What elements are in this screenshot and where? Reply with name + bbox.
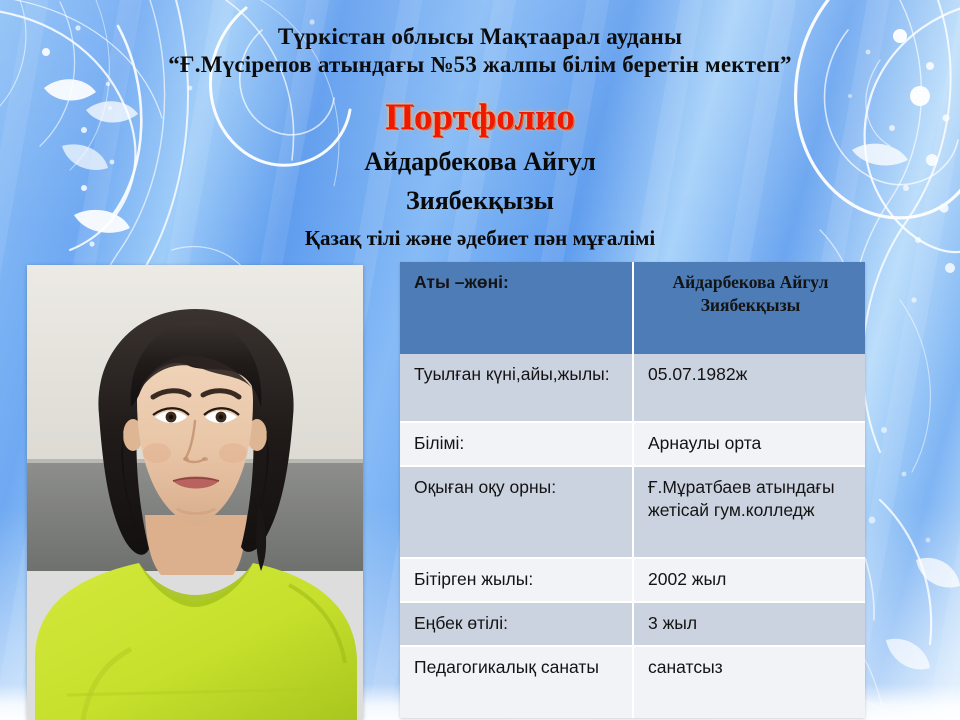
table-row: Білімі: Арнаулы орта xyxy=(400,422,865,466)
teacher-photo xyxy=(27,265,363,720)
row-value: 2002 жыл xyxy=(633,558,865,602)
table-header-label: Аты –жөні: xyxy=(400,262,633,354)
page-title: Портфолио xyxy=(0,96,960,139)
table-header-row: Аты –жөні: Айдарбекова Айгул Зиябекқызы xyxy=(400,262,865,354)
row-value: Арнаулы орта xyxy=(633,422,865,466)
row-label: Бітірген жылы: xyxy=(400,558,633,602)
row-value: 05.07.1982ж xyxy=(633,354,865,422)
row-label: Туылған күні,айы,жылы: xyxy=(400,354,633,422)
row-value: Ғ.Мұратбаев атындағы жетісай гум.колледж xyxy=(633,466,865,558)
table-row: Бітірген жылы: 2002 жыл xyxy=(400,558,865,602)
table-row: Еңбек өтілі: 3 жыл xyxy=(400,602,865,646)
portrait-illustration xyxy=(27,265,363,720)
row-value: 3 жыл xyxy=(633,602,865,646)
table-row: Оқыған оқу орны: Ғ.Мұратбаев атындағы же… xyxy=(400,466,865,558)
school-region-line: Түркістан облысы Мақтаарал ауданы xyxy=(0,24,960,50)
table-row: Туылған күні,айы,жылы: 05.07.1982ж xyxy=(400,354,865,422)
table-header-value: Айдарбекова Айгул Зиябекқызы xyxy=(633,262,865,354)
row-label: Еңбек өтілі: xyxy=(400,602,633,646)
row-label: Педагогикалық санаты xyxy=(400,646,633,718)
portfolio-slide: Түркістан облысы Мақтаарал ауданы “Ғ.Мүс… xyxy=(0,0,960,720)
row-label: Оқыған оқу орны: xyxy=(400,466,633,558)
table-row: Педагогикалық санаты санатсыз xyxy=(400,646,865,718)
teacher-name-line-1: Айдарбекова Айгул xyxy=(0,147,960,177)
teacher-subject-line: Қазақ тілі және әдебиет пән мұғалімі xyxy=(0,226,960,251)
row-value: санатсыз xyxy=(633,646,865,718)
school-name-line: “Ғ.Мүсірепов атындағы №53 жалпы білім бе… xyxy=(0,52,960,78)
teacher-info-table: Аты –жөні: Айдарбекова Айгул Зиябекқызы … xyxy=(400,262,865,718)
row-label: Білімі: xyxy=(400,422,633,466)
teacher-name-line-2: Зиябекқызы xyxy=(0,186,960,216)
